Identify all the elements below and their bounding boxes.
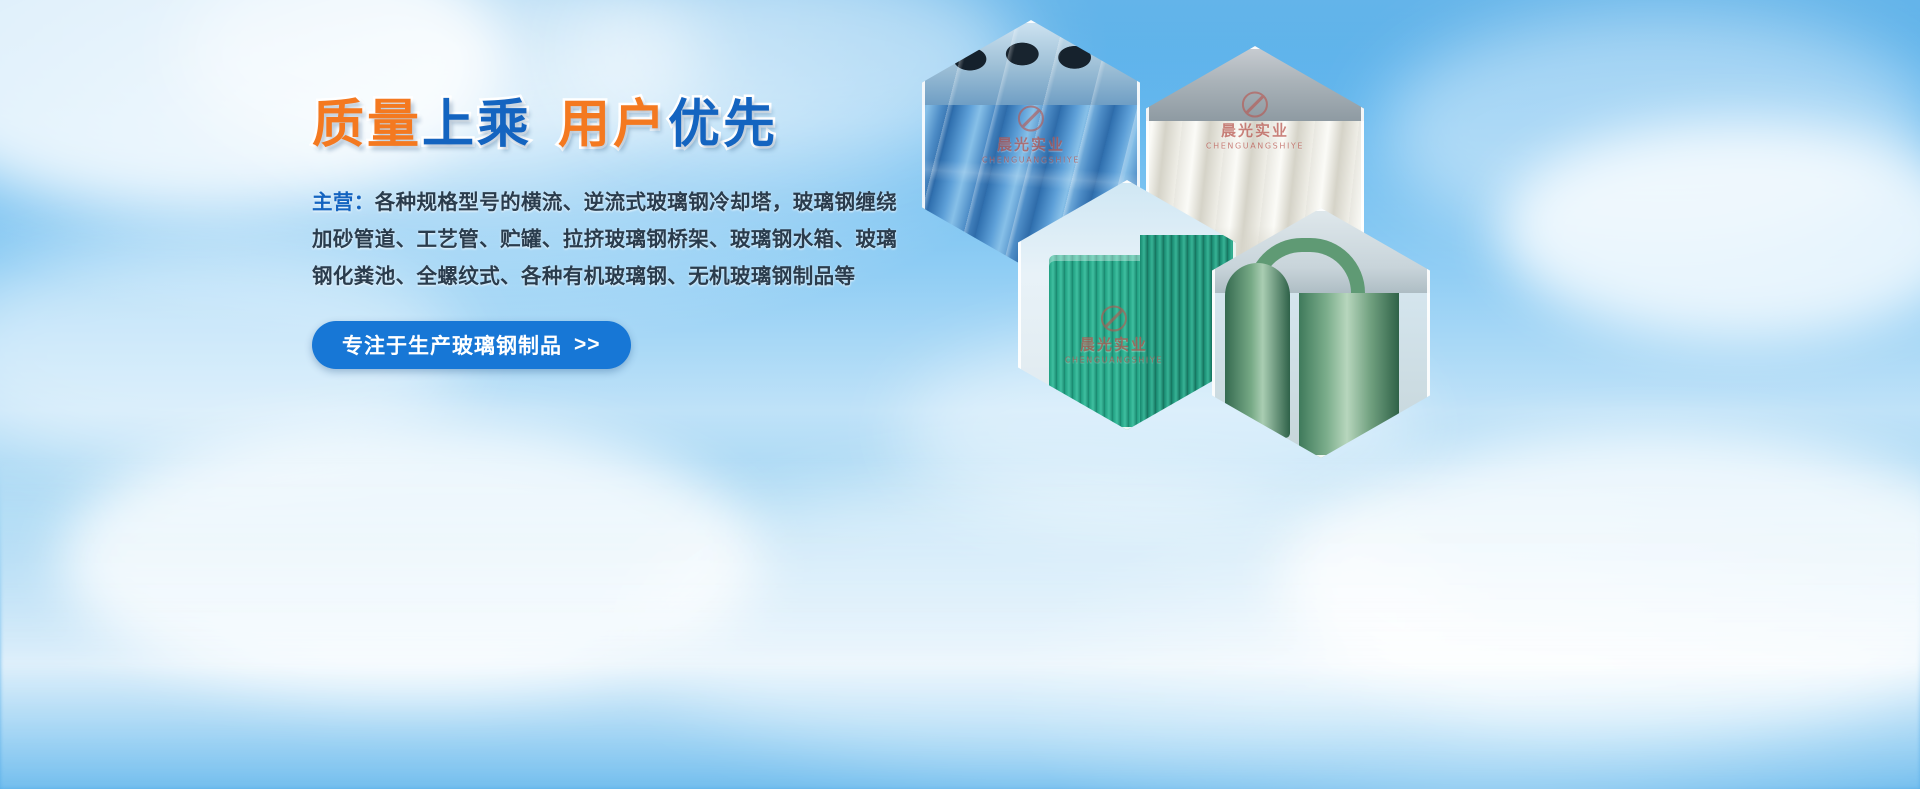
cta-label: 专注于生产玻璃钢制品 — [342, 330, 562, 360]
business-scope-description: 主营：各种规格型号的横流、逆流式玻璃钢冷却塔，玻璃钢缠绕加砂管道、工艺管、贮罐、… — [312, 184, 912, 295]
hero-copy-block: 质量上乘用户优先 主营：各种规格型号的横流、逆流式玻璃钢冷却塔，玻璃钢缠绕加砂管… — [312, 96, 932, 369]
cloud-shape — [60, 420, 760, 700]
headline-segment-3: 用户 — [558, 95, 668, 155]
cloud-shape — [1380, 10, 1920, 250]
description-body-text: 各种规格型号的横流、逆流式玻璃钢冷却塔，玻璃钢缠绕加砂管道、工艺管、贮罐、拉挤玻… — [312, 190, 897, 288]
double-chevron-right-icon: >> — [574, 333, 601, 357]
hero-banner: 质量上乘用户优先 主营：各种规格型号的横流、逆流式玻璃钢冷却塔，玻璃钢缠绕加砂管… — [0, 0, 1920, 789]
cloud-shape — [1500, 120, 1920, 340]
focus-on-frp-products-button[interactable]: 专注于生产玻璃钢制品 >> — [312, 321, 631, 369]
description-lead-label: 主营： — [312, 190, 375, 214]
sky-bottom-haze — [0, 459, 1920, 789]
headline-segment-4: 优先 — [668, 95, 778, 155]
cloud-shape — [640, 470, 1460, 770]
headline-segment-1: 质量 — [312, 95, 422, 155]
product-hexagon-collage: 晨光实业 CHENGUANGSHIYE 晨光实业 CHENGUANGSHIYE … — [920, 12, 1440, 412]
cloud-shape — [1280, 430, 1920, 730]
headline-segment-2: 上乘 — [422, 95, 532, 155]
page-title: 质量上乘用户优先 — [312, 96, 932, 154]
